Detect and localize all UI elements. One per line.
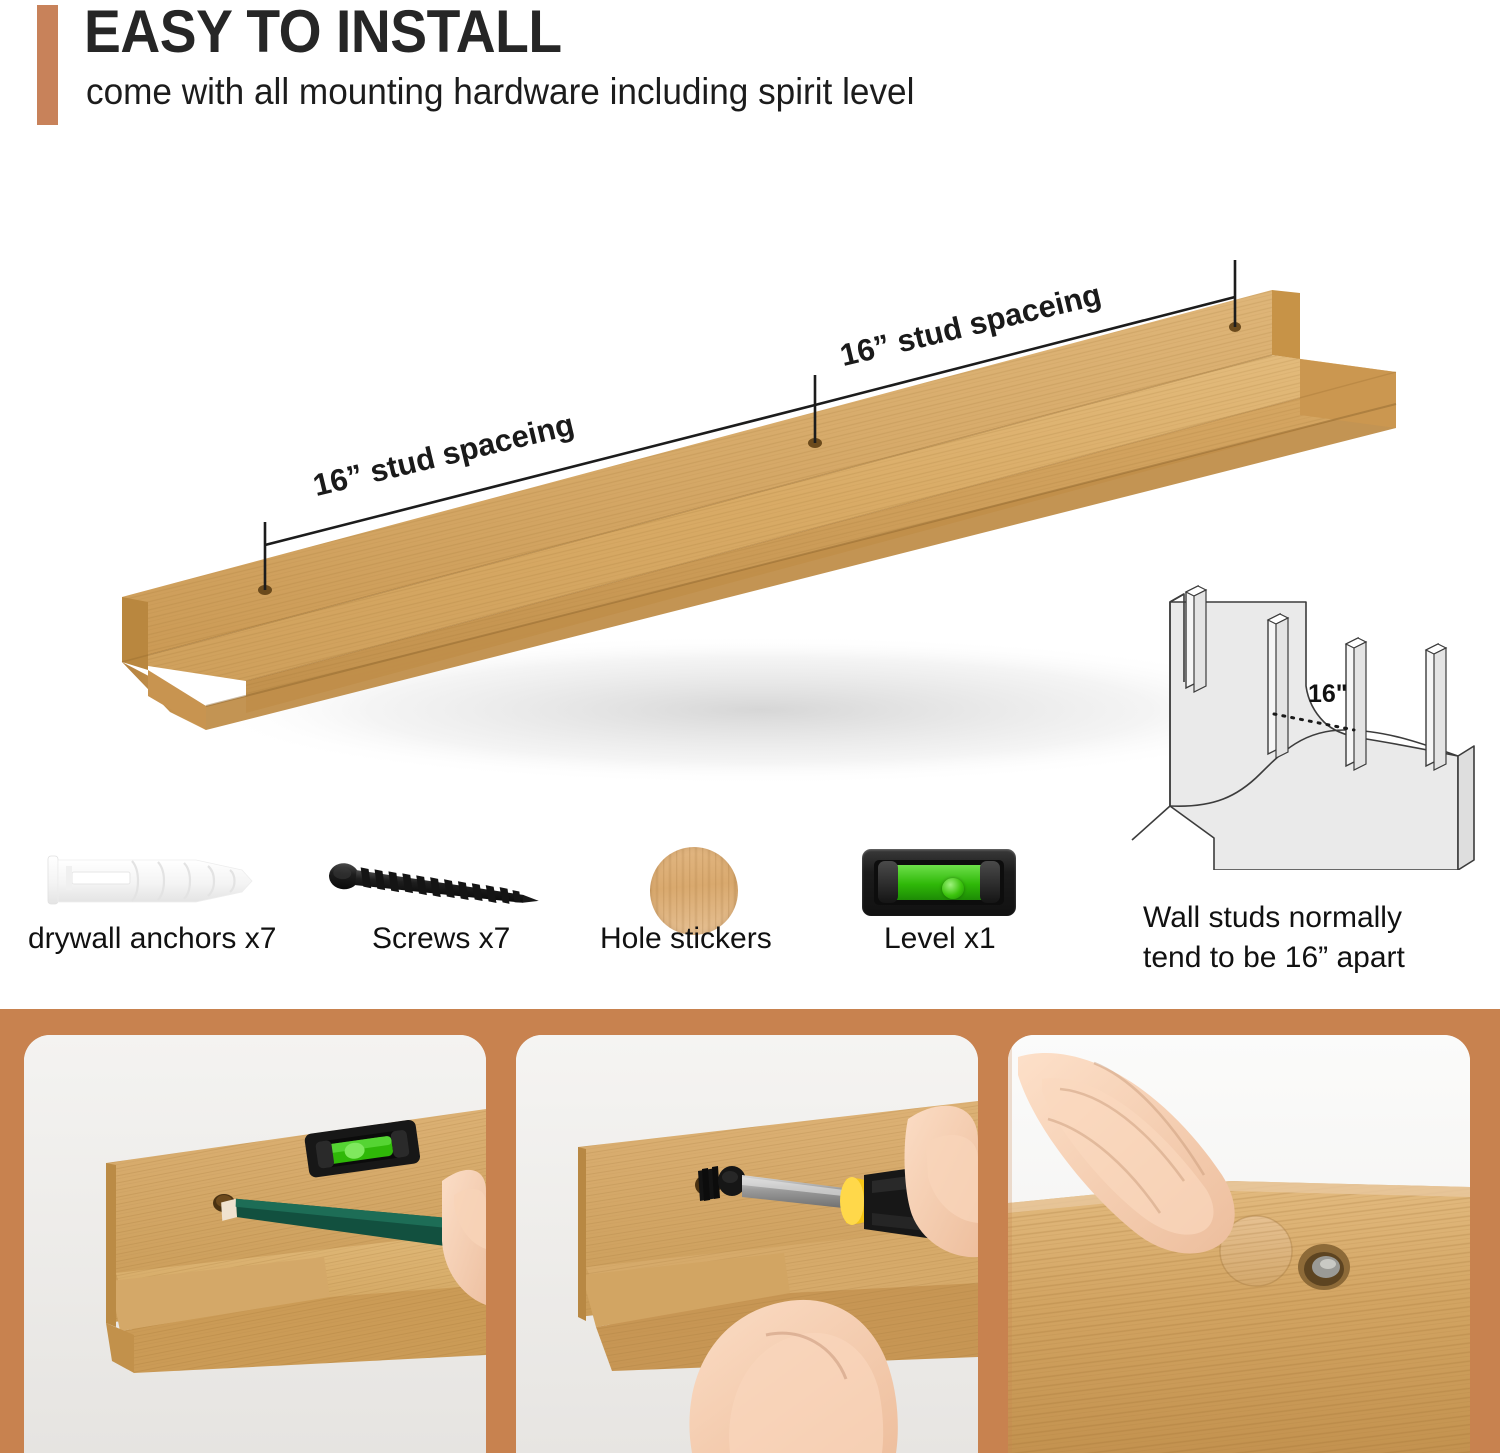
level-window	[874, 860, 1004, 905]
hardware-label-drywall-anchors: drywall anchors x7	[28, 922, 276, 956]
screw-icon	[328, 856, 548, 914]
page-subtitle: come with all mounting hardware includin…	[86, 70, 914, 114]
level-cap-left	[878, 861, 898, 903]
level-icon	[862, 849, 1016, 916]
level-cap-right	[980, 861, 1000, 903]
hardware-label-level: Level x1	[884, 922, 996, 956]
level-bubble	[942, 878, 964, 899]
step-photo-1	[24, 1035, 486, 1453]
wall-stud-diagram: 16"	[1118, 570, 1500, 870]
step-photo-2	[516, 1035, 978, 1453]
stud-diagram-caption: Wall studs normally tend to be 16” apart	[1143, 898, 1493, 977]
step-photo-3	[1008, 1035, 1470, 1453]
infographic-page: EASY TO INSTALL come with all mounting h…	[0, 0, 1500, 1453]
hardware-label-screws: Screws x7	[372, 922, 510, 956]
stud-spacing-value: 16"	[1308, 680, 1348, 708]
drywall-anchor-icon	[46, 852, 276, 910]
level-vial	[885, 865, 993, 900]
installation-steps-strip	[0, 1009, 1500, 1453]
hardware-label-hole-stickers: Hole stickers	[600, 922, 772, 956]
header-accent-bar	[37, 5, 58, 125]
page-title: EASY TO INSTALL	[84, 2, 562, 62]
stud-caption-line-1: Wall studs normally	[1143, 898, 1493, 938]
stud-caption-line-2: tend to be 16” apart	[1143, 938, 1493, 978]
